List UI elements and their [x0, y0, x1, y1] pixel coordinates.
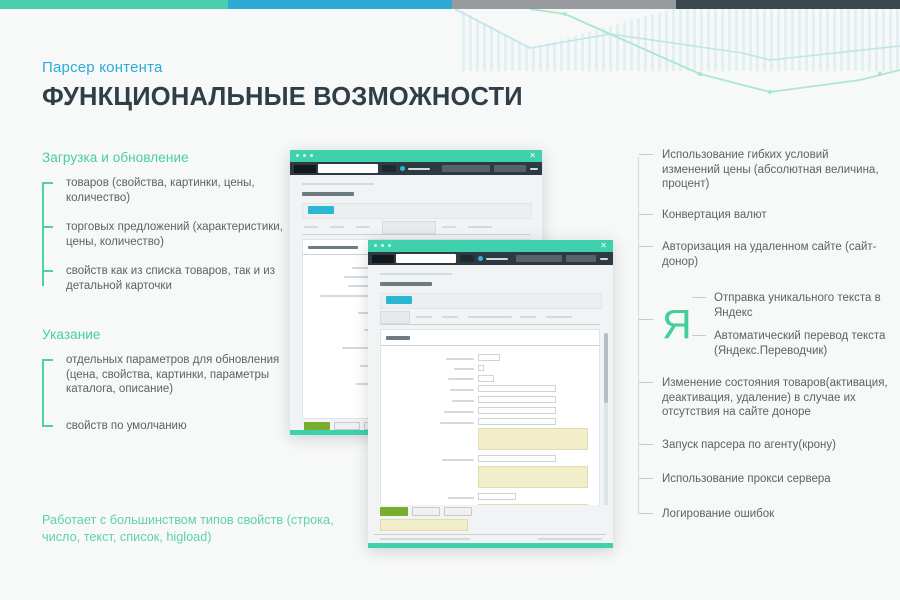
- menu-item-help-icon: [478, 256, 483, 261]
- front-window-footer-block: [368, 505, 613, 543]
- toolbar-strip: [302, 203, 532, 219]
- lang-label: [600, 258, 608, 260]
- close-icon[interactable]: ✕: [529, 152, 536, 160]
- cancel-button: [444, 507, 472, 516]
- tab-media: [468, 226, 492, 228]
- list-item: отдельных параметров для обновления (цен…: [66, 353, 290, 397]
- menu-counter: [382, 165, 396, 172]
- footer-copyright: [380, 538, 470, 540]
- field-label: [452, 400, 474, 402]
- field-label: [448, 497, 474, 499]
- list-item: свойств как из списка товаров, так и из …: [66, 264, 290, 293]
- field-checkbox: [478, 365, 484, 371]
- field-input: [478, 396, 556, 403]
- window-titlebar: ✕: [368, 240, 613, 252]
- menu-item-admin: [318, 164, 378, 173]
- feature-group-specify: Указание отдельных параметров для обновл…: [42, 327, 290, 433]
- admin-topmenu-bar: [290, 162, 542, 175]
- top-color-bar: [0, 0, 900, 9]
- top-bar-segment-dark: [676, 0, 900, 9]
- front-window-bottom-accent: [368, 543, 613, 548]
- slide-canvas: Парсер контента ФУНКЦИОНАЛЬНЫЕ ВОЗМОЖНОС…: [0, 0, 900, 600]
- close-icon[interactable]: ✕: [600, 242, 607, 250]
- window-dots: [374, 244, 391, 247]
- tab-extra-settings: [468, 316, 512, 318]
- footer-divider: [374, 534, 606, 535]
- window-titlebar: ✕: [290, 150, 542, 162]
- field-input: [478, 375, 494, 382]
- field-select: [478, 493, 516, 500]
- list-item: Конвертация валют: [638, 208, 888, 223]
- tab-access: [356, 226, 370, 228]
- tab-extra-settings-active: [382, 221, 436, 234]
- tab-underline: [302, 234, 530, 235]
- toolbar-strip: [380, 293, 602, 309]
- field-input: [478, 418, 556, 425]
- window-dots: [296, 154, 313, 157]
- list-button: [386, 296, 412, 304]
- deco-line-nodes: [563, 12, 882, 94]
- tab-underline: [380, 324, 600, 325]
- page-title: ФУНКЦИОНАЛЬНЫЕ ВОЗМОЖНОСТИ: [42, 83, 523, 112]
- left-column-footnote: Работает с большинством типов свойств (с…: [42, 512, 372, 545]
- panel-divider: [381, 345, 599, 346]
- group-items: товаров (свойства, картинки, цены, колич…: [42, 176, 290, 293]
- field-label: [448, 378, 474, 380]
- list-button: [308, 206, 334, 214]
- page-heading: [302, 192, 354, 196]
- list-item: Использование гибких условий изменений ц…: [638, 148, 888, 192]
- field-label: [446, 358, 474, 360]
- field-select: [478, 385, 556, 392]
- page-heading: [380, 282, 432, 286]
- menu-item-site: [294, 165, 316, 173]
- panel-title: [308, 246, 358, 249]
- top-bar-segment-grey: [452, 0, 676, 9]
- stripe-fill: [455, 9, 900, 71]
- feature-group-upload: Загрузка и обновление товаров (свойства,…: [42, 150, 290, 293]
- page-kicker: Парсер контента: [42, 59, 163, 76]
- admin-topmenu-bar: [368, 252, 613, 265]
- menu-item-help-label: [486, 258, 508, 260]
- list-item: Автоматический перевод текста (Яндекс.Пе…: [688, 329, 888, 358]
- footer-support: [538, 538, 602, 540]
- search-input: [516, 255, 562, 262]
- yandex-feature-block: Я Отправка уникального текста в Яндекс А…: [638, 291, 888, 358]
- lang-label: [530, 168, 538, 170]
- search-input: [442, 165, 490, 172]
- list-item: Отправка уникального текста в Яндекс: [688, 291, 888, 320]
- tab-access: [442, 316, 458, 318]
- tab-media: [546, 316, 572, 318]
- list-item: торговых предложений (характеристики, це…: [66, 220, 290, 249]
- deco-line-green: [530, 9, 900, 92]
- list-item: Авторизация на удаленном сайте (сайт-дон…: [638, 240, 888, 269]
- menu-item-site: [372, 255, 394, 263]
- breadcrumb: [380, 273, 452, 275]
- menu-item-help-icon: [400, 166, 405, 171]
- list-item: Изменение состояния товаров(активация, д…: [638, 376, 888, 420]
- field-label: [440, 422, 474, 424]
- top-bar-segment-blue: [228, 0, 452, 9]
- yandex-items: Отправка уникального текста в Яндекс Авт…: [688, 291, 888, 358]
- tab-links: [520, 316, 536, 318]
- field-input: [478, 407, 556, 414]
- tab-parser-active: [380, 311, 410, 324]
- field-label: [442, 459, 474, 461]
- menu-counter: [460, 255, 474, 262]
- apply-button: [334, 422, 360, 430]
- group-heading: Загрузка и обновление: [42, 150, 290, 165]
- menu-item-admin: [396, 254, 456, 263]
- field-select: [478, 354, 500, 361]
- screenshot-window-front[interactable]: ✕: [368, 240, 613, 548]
- apply-button: [412, 507, 440, 516]
- window-body: [368, 265, 613, 543]
- tab-rules: [330, 226, 344, 228]
- field-label: [454, 368, 474, 370]
- yandex-icon: Я: [662, 304, 688, 345]
- list-item: Запуск парсера по агенту(крону): [638, 438, 888, 453]
- field-label: [444, 411, 474, 413]
- group-heading: Указание: [42, 327, 290, 342]
- field-label: [450, 389, 474, 391]
- panel-title: [386, 336, 410, 340]
- tab-links: [442, 226, 456, 228]
- user-chip: [566, 255, 596, 262]
- deco-line-light: [455, 9, 900, 60]
- list-item: свойств по умолчанию: [66, 419, 290, 434]
- menu-item-help-label: [408, 168, 430, 170]
- required-fields-note: [380, 519, 468, 531]
- save-button: [304, 422, 330, 430]
- scrollbar: [604, 333, 608, 523]
- field-hint-note: [478, 466, 588, 488]
- field-hint-note: [478, 428, 588, 450]
- right-feature-column: Использование гибких условий изменений ц…: [638, 148, 888, 521]
- list-item: Логирование ошибок: [638, 507, 888, 522]
- list-item: товаров (свойства, картинки, цены, колич…: [66, 176, 290, 205]
- left-feature-column: Загрузка и обновление товаров (свойства,…: [42, 150, 290, 433]
- tab-parser: [304, 226, 318, 228]
- top-bar-segment-green: [0, 0, 228, 9]
- user-chip: [494, 165, 526, 172]
- tab-rules: [416, 316, 432, 318]
- breadcrumb: [302, 183, 374, 185]
- save-button: [380, 507, 408, 516]
- list-item: Использование прокси сервера: [638, 472, 888, 487]
- field-input: [478, 455, 556, 462]
- group-items: отдельных параметров для обновления (цен…: [42, 353, 290, 433]
